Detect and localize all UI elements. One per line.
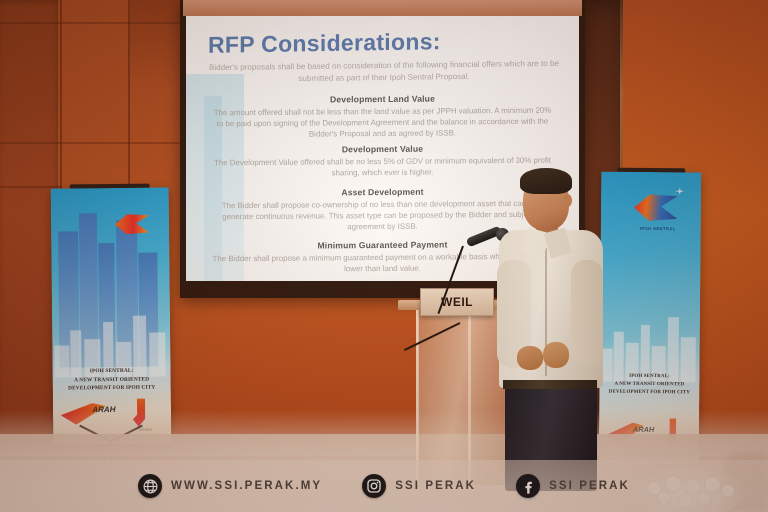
banner-headline: IPOH SENTRAL: A NEW TRANSIT ORIENTED DEV… <box>603 373 695 398</box>
social-item-facebook[interactable]: SSI PERAK <box>516 474 630 498</box>
globe-icon <box>138 474 162 498</box>
banner-headline-line3: DEVELOPMENT FOR IPOH CITY <box>603 389 695 398</box>
social-item-instagram[interactable]: SSI PERAK <box>362 474 476 498</box>
banner-sunburst-logo <box>112 208 155 242</box>
slide-subtitle: Bidder's proposals shall be based on con… <box>204 58 564 85</box>
social-item-website[interactable]: WWW.SSI.PERAK.MY <box>138 474 322 498</box>
slide-section-heading: Development Land Value <box>186 92 579 105</box>
venue-sign: WEIL <box>420 288 494 316</box>
ipoh-sentral-logo-text: IPOH SENTRAL <box>631 226 685 231</box>
slide-section-body: The amount offered shall not be less tha… <box>186 104 579 140</box>
ipoh-sentral-star-icon <box>675 188 684 195</box>
ipoh-sentral-logo: IPOH SENTRAL <box>631 186 685 230</box>
photo-scene: RFP Considerations: Bidder's proposals s… <box>0 0 768 512</box>
social-label-facebook: SSI PERAK <box>549 480 630 492</box>
projection-screen-top-bar <box>183 0 582 16</box>
slide-section-heading: Development Value <box>186 142 579 155</box>
presenter-ear <box>563 194 572 207</box>
banner-headline-line3: DEVELOPMENT FOR IPOH CITY <box>57 383 166 393</box>
presenter-arm-right <box>571 260 603 364</box>
presenter-hand-left <box>517 346 543 370</box>
instagram-icon <box>362 474 386 498</box>
presenter-hair <box>520 168 572 194</box>
presenter-belt <box>503 380 597 389</box>
presenter-person <box>495 168 615 488</box>
lectern-edge <box>416 309 419 485</box>
presenter-hand-right <box>543 342 569 368</box>
venue-sign-label: WEIL <box>441 295 473 309</box>
slide-section: Development Land Value The amount offere… <box>186 92 579 140</box>
wall-trim <box>0 142 180 144</box>
ipoh-sentral-arrow-icon <box>634 194 677 221</box>
facebook-icon <box>516 474 540 498</box>
banner-headline: IPOH SENTRAL: A NEW TRANSIT ORIENTED DEV… <box>57 367 166 393</box>
social-media-footer: WWW.SSI.PERAK.MY SSI PERAK SSI PERAK <box>0 460 768 512</box>
wall-trim <box>0 22 180 24</box>
lectern-edge <box>468 309 471 485</box>
social-label-instagram: SSI PERAK <box>395 480 476 492</box>
slide-title: RFP Considerations: <box>208 28 441 59</box>
social-label-website: WWW.SSI.PERAK.MY <box>171 480 322 492</box>
roll-up-banner-left: IPOH SENTRAL: A NEW TRANSIT ORIENTED DEV… <box>51 187 172 444</box>
